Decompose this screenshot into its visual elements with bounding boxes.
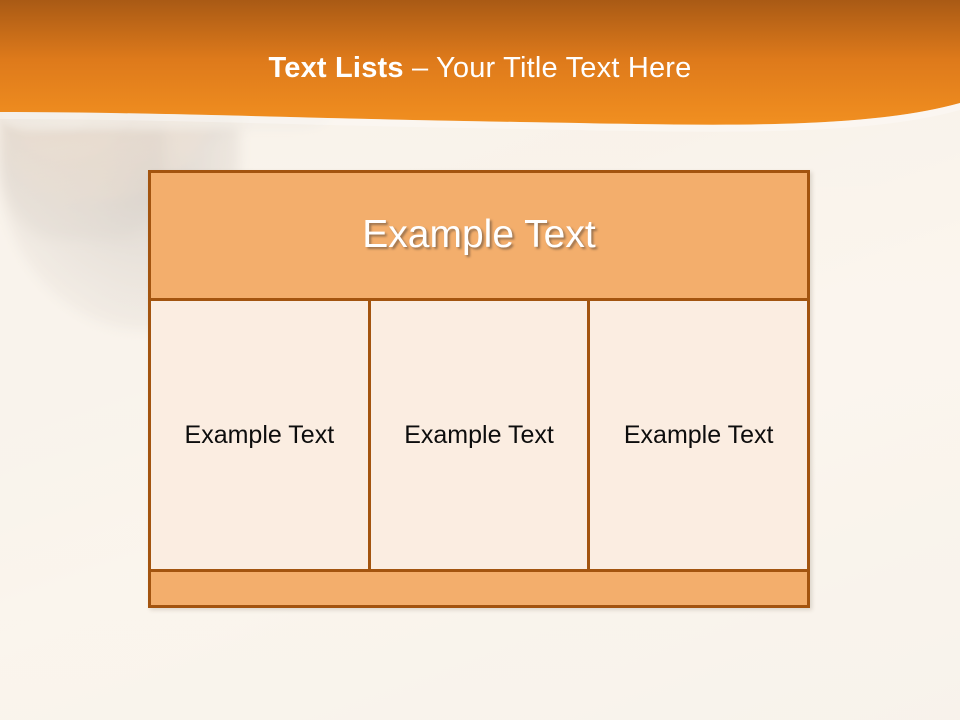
table-cell-1-label: Example Text bbox=[185, 420, 335, 451]
content-table: Example Text Example Text Example Text E… bbox=[148, 170, 810, 608]
table-row: Example Text Example Text Example Text bbox=[151, 301, 807, 569]
page-title-rest: – Your Title Text Here bbox=[404, 52, 692, 84]
slide: Text Lists – Your Title Text Here Exampl… bbox=[0, 0, 960, 720]
table-cell-3-label: Example Text bbox=[624, 420, 774, 451]
table-header-label: Example Text bbox=[362, 214, 595, 257]
page-title-strong: Text Lists bbox=[268, 52, 403, 84]
table-footer-strip bbox=[151, 569, 807, 605]
table-cell-2[interactable]: Example Text bbox=[368, 301, 588, 569]
page-title: Text Lists – Your Title Text Here bbox=[0, 52, 960, 85]
table-cell-3[interactable]: Example Text bbox=[587, 301, 807, 569]
table-cell-1[interactable]: Example Text bbox=[151, 301, 368, 569]
table-header-cell[interactable]: Example Text bbox=[151, 173, 807, 301]
table-cell-2-label: Example Text bbox=[404, 420, 554, 451]
